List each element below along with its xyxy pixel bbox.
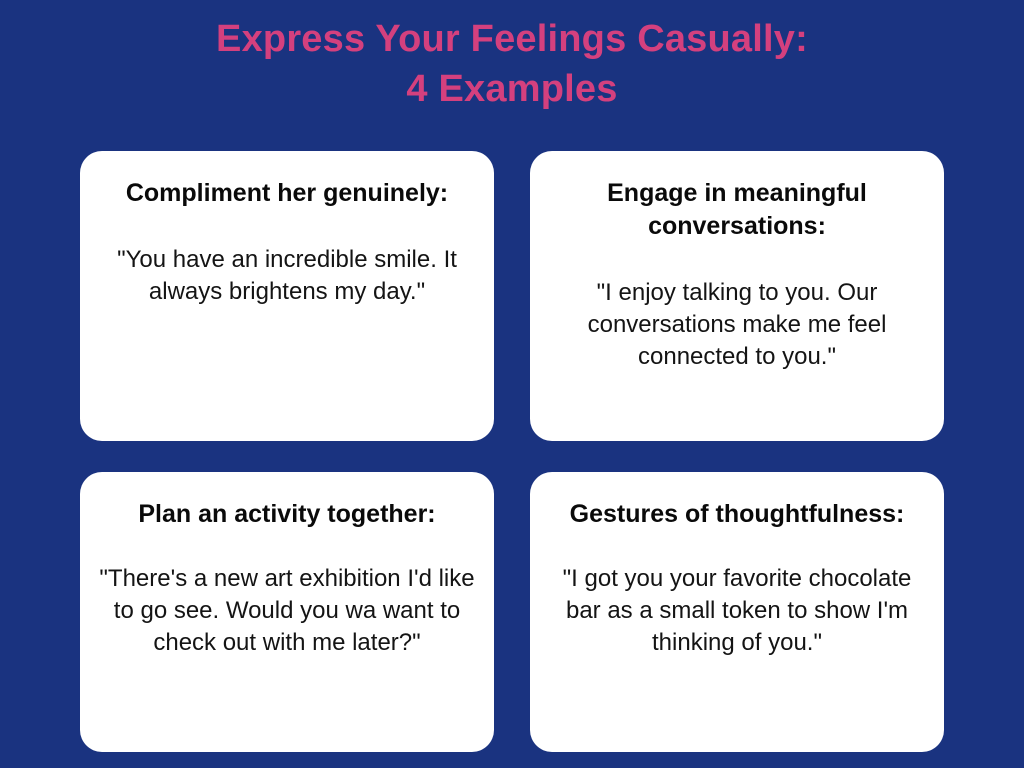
example-card-1-heading: Compliment her genuinely:: [126, 177, 448, 210]
examples-grid: Compliment her genuinely: "You have an i…: [80, 151, 944, 752]
example-card-4-heading: Gestures of thoughtfulness:: [570, 498, 905, 531]
example-card-2-heading: Engage in meaningful conversations:: [561, 177, 913, 243]
poster-canvas: Express Your Feelings Casually: 4 Exampl…: [0, 0, 1024, 768]
page-title-line-2: 4 Examples: [0, 64, 1024, 114]
example-card-3-heading: Plan an activity together:: [138, 498, 435, 531]
example-card-2-body: "I enjoy talking to you. Our conversatio…: [548, 277, 926, 373]
example-card-2: Engage in meaningful conversations: "I e…: [530, 151, 944, 441]
example-card-4: Gestures of thoughtfulness: "I got you y…: [530, 472, 944, 752]
page-title: Express Your Feelings Casually: 4 Exampl…: [0, 14, 1024, 114]
example-card-1-body: "You have an incredible smile. It always…: [98, 244, 476, 308]
example-card-3: Plan an activity together: "There's a ne…: [80, 472, 494, 752]
example-card-4-body: "I got you your favorite chocolate bar a…: [548, 563, 926, 659]
example-card-1: Compliment her genuinely: "You have an i…: [80, 151, 494, 441]
page-title-line-1: Express Your Feelings Casually:: [0, 14, 1024, 64]
example-card-3-body: "There's a new art exhibition I'd like t…: [98, 563, 476, 659]
